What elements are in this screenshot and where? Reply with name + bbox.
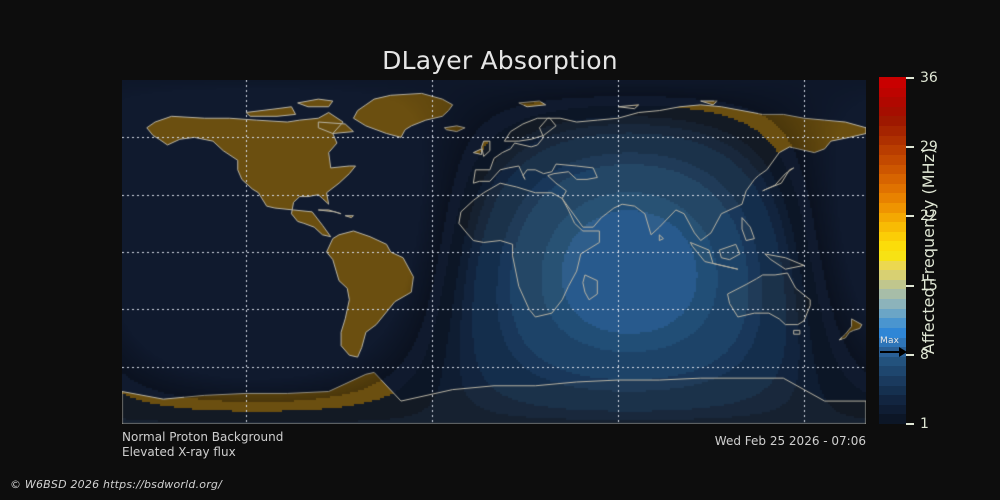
tick-dash [906,146,914,148]
proton-status-text: Normal Proton Background [122,429,283,445]
tick-dash [906,285,914,287]
map-canvas[interactable] [122,80,866,424]
dlayer-absorption-page: DLayer Absorption 3629221581 Max Affecte… [0,0,1000,500]
timestamp-text: Wed Feb 25 2026 - 07:06 [566,434,866,448]
tick-dash [906,77,914,79]
tick-dash [906,354,914,356]
page-title: DLayer Absorption [0,46,1000,75]
world-map[interactable] [122,80,866,424]
tick-dash [906,423,914,425]
colorbar-axis-label: Affected Frequency (MHz) [916,78,942,424]
tick-dash [906,215,914,217]
xray-status-text: Elevated X-ray flux [122,444,236,460]
copyright-text: © W6BSD 2026 https://bsdworld.org/ [10,478,222,491]
